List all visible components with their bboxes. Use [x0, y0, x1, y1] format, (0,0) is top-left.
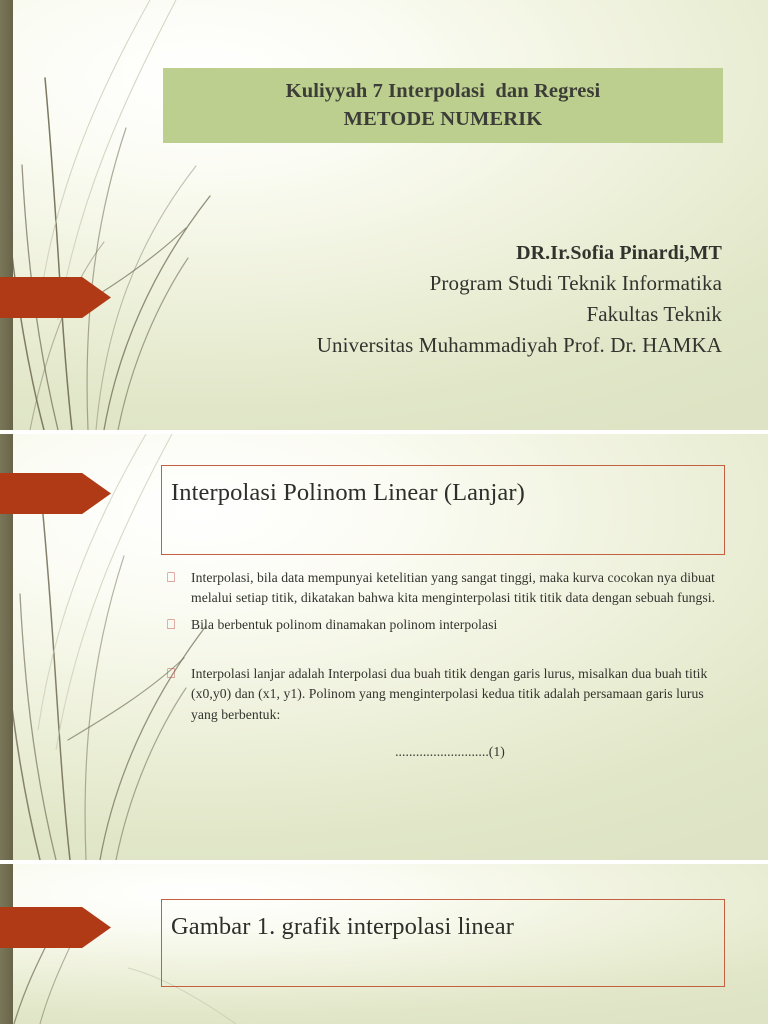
list-item: ⎕ Interpolasi, bila data mempunyai ketel… — [167, 568, 727, 609]
right-arrow-accent-icon — [0, 907, 111, 948]
affiliation-line-1: Program Studi Teknik Informatika — [317, 268, 722, 299]
spacer — [167, 642, 727, 664]
title-line-1: Kuliyyah 7 Interpolasi dan Regresi — [286, 78, 601, 106]
list-item-text: Bila berbentuk polinom dinamakan polinom… — [191, 615, 727, 635]
bullet-marker-icon: ⎕ — [167, 615, 191, 636]
equation-caption: ...........................(1) — [167, 731, 727, 763]
author-block: DR.Ir.Sofia Pinardi,MT Program Studi Tek… — [317, 238, 722, 361]
list-item-text: Interpolasi lanjar adalah Interpolasi du… — [191, 664, 727, 725]
slide-figure: Gambar 1. grafik interpolasi linear — [0, 864, 768, 1024]
right-arrow-accent-icon — [0, 277, 111, 318]
figure-heading-box: Gambar 1. grafik interpolasi linear — [161, 899, 725, 987]
title-line-2: METODE NUMERIK — [344, 106, 543, 134]
title-banner: Kuliyyah 7 Interpolasi dan Regresi METOD… — [163, 68, 723, 143]
grass-decoration-icon — [0, 0, 280, 430]
section-heading-box: Interpolasi Polinom Linear (Lanjar) — [161, 465, 725, 555]
slide-title: Kuliyyah 7 Interpolasi dan Regresi METOD… — [0, 0, 768, 430]
affiliation-line-2: Fakultas Teknik — [317, 299, 722, 330]
list-item: ⎕ Bila berbentuk polinom dinamakan polin… — [167, 615, 727, 636]
section-heading-text: Interpolasi Polinom Linear (Lanjar) — [162, 466, 525, 507]
bullet-marker-icon: ⎕ — [167, 568, 191, 589]
bullet-marker-icon: ⎕ — [167, 664, 191, 685]
affiliation-line-3: Universitas Muhammadiyah Prof. Dr. HAMKA — [317, 330, 722, 361]
figure-heading-text: Gambar 1. grafik interpolasi linear — [162, 900, 514, 941]
slide-content: Interpolasi Polinom Linear (Lanjar) ⎕ In… — [0, 434, 768, 860]
list-item-text: Interpolasi, bila data mempunyai ketelit… — [191, 568, 727, 609]
slide-deck-page: Kuliyyah 7 Interpolasi dan Regresi METOD… — [0, 0, 768, 1024]
right-arrow-accent-icon — [0, 473, 111, 514]
bullet-list: ⎕ Interpolasi, bila data mempunyai ketel… — [167, 568, 727, 763]
left-accent-band — [0, 0, 13, 430]
list-item: ⎕ Interpolasi lanjar adalah Interpolasi … — [167, 664, 727, 725]
author-name: DR.Ir.Sofia Pinardi,MT — [317, 238, 722, 268]
